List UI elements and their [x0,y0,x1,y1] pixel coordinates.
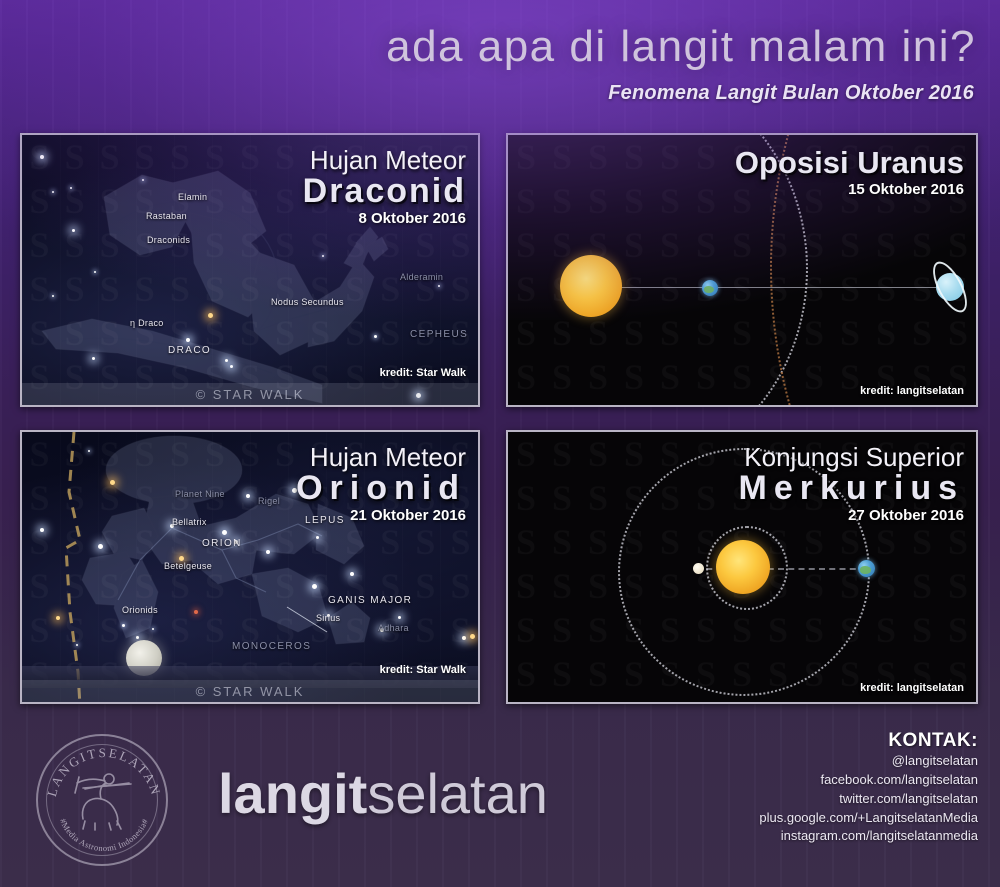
star [374,335,377,338]
draconid-heading: Hujan Meteor Draconid 8 Oktober 2016 [303,147,466,227]
sky-label: Bellatrix [172,517,207,527]
sky-label: Nodus Secundus [271,297,344,307]
starwalk-watermark-bar: © STAR WALK [22,680,478,702]
sky-label: MONOCEROS [232,641,311,652]
earth [858,560,875,577]
star [350,572,354,576]
mercury-scene: SSSSSSSSSSSSSSSSSSSSSSSSSSSSSSSSSSSSSSSS… [508,432,976,702]
uranus-date: 15 Oktober 2016 [735,181,964,198]
poster-footer: LANGITSELATAN #Media Astronomi Indonesia… [0,712,1000,887]
contact-handle[interactable]: @langitselatan [759,752,978,771]
star [56,616,60,620]
sky-label: DRACO [168,345,211,356]
earth [702,280,718,296]
star [52,191,54,193]
draconid-heading-main: Draconid [303,174,466,210]
panel-uranus[interactable]: SSSSSSSSSSSSSSSSSSSSSSSSSSSSSSSSSSSSSSSS… [506,133,978,407]
contact-gplus[interactable]: plus.google.com/+LangitselatanMedia [759,809,978,828]
uranus-heading: Oposisi Uranus 15 Oktober 2016 [735,147,964,198]
sky-label: ORION [202,538,242,549]
draconid-scene: SSSSSSSSSSSSSSSSSSSSSSSSSSSSSSSSSSSSSSSS… [22,135,478,405]
draconid-heading-top: Hujan Meteor [303,147,466,174]
star [52,295,54,297]
orionid-scene: SSSSSSSSSSSSSSSSSSSSSSSSSSSSSSSSSSSSSSSS… [22,432,478,702]
contact-facebook[interactable]: facebook.com/langitselatan [759,771,978,790]
sky-label: CEPHEUS [410,329,468,340]
sky-label: Planet Nine [175,489,225,499]
star [142,179,144,181]
orionid-heading: Hujan Meteor Orionid 21 Oktober 2016 [296,444,466,524]
star [316,536,319,539]
star [152,628,154,630]
star [438,285,440,287]
sun [716,540,770,594]
panel-draconid[interactable]: SSSSSSSSSSSSSSSSSSSSSSSSSSSSSSSSSSSSSSSS… [20,133,480,407]
star [266,550,270,554]
mercury-heading-top: Konjungsi Superior [739,444,965,471]
orionid-heading-main: Orionid [296,471,466,507]
sky-label: Adhara [378,623,409,633]
star [110,480,115,485]
star [92,357,95,360]
orionid-date: 21 Oktober 2016 [296,507,466,524]
mercury-credit: kredit: langitselatan [860,682,964,694]
star [40,528,44,532]
star [312,584,317,589]
sky-label: Rastaban [146,211,187,221]
mercury-heading-main: Merkurius [739,471,965,507]
page-subtitle: Fenomena Langit Bulan Oktober 2016 [608,82,974,105]
draconid-date: 8 Oktober 2016 [303,210,466,227]
uranus-credit: kredit: langitselatan [860,385,964,397]
star [322,255,324,257]
starwalk-watermark-bar: © STAR WALK [22,383,478,405]
star [194,610,198,614]
brand-wordmark: langitselatan [218,766,548,822]
sky-label: Rigel [258,496,280,506]
sky-label: Orionids [122,605,158,615]
star [98,544,103,549]
mercury-planet [693,563,704,574]
star [70,187,72,189]
star [246,494,250,498]
page-title: ada apa di langit malam ini? [386,22,976,72]
brand-bold: langit [218,762,367,825]
orionid-heading-top: Hujan Meteor [296,444,466,471]
panel-orionid[interactable]: SSSSSSSSSSSSSSSSSSSSSSSSSSSSSSSSSSSSSSSS… [20,430,480,704]
panel-mercury[interactable]: SSSSSSSSSSSSSSSSSSSSSSSSSSSSSSSSSSSSSSSS… [506,430,978,704]
star [470,634,475,639]
star [122,624,125,627]
sun [560,255,622,317]
contact-instagram[interactable]: instagram.com/langitselatanmedia [759,827,978,846]
mercury-date: 27 Oktober 2016 [739,507,965,524]
star [462,636,466,640]
star [88,450,90,452]
poster-canvas: ada apa di langit malam ini? Fenomena La… [0,0,1000,887]
star [225,359,228,362]
star [72,229,75,232]
langitselatan-logo-seal: LANGITSELATAN #Media Astronomi Indonesia… [36,734,168,866]
draconid-credit: kredit: Star Walk [380,367,466,379]
poster-header: ada apa di langit malam ini? Fenomena La… [0,0,1000,128]
sky-label: Sirius [316,613,340,623]
star-rastaban [186,338,190,342]
brand-light: selatan [367,762,548,825]
star [398,616,401,619]
star [40,155,44,159]
sky-label: Draconids [147,235,190,245]
uranus-heading-main: Oposisi Uranus [735,147,964,180]
mercury-heading: Konjungsi Superior Merkurius 27 Oktober … [739,444,965,524]
sagittarius-archer-icon [65,769,139,831]
sky-label: Betelgeuse [164,561,212,571]
star [136,636,139,639]
orionid-credit: kredit: Star Walk [380,664,466,676]
star [94,271,96,273]
sky-label: Alderamin [400,272,443,282]
star [76,644,78,646]
sky-label: η Draco [130,318,164,328]
star [230,365,233,368]
sky-label: Elamin [178,192,207,202]
opposition-sightline [616,287,952,288]
contact-block: KONTAK: @langitselatan facebook.com/lang… [759,730,978,846]
sky-label: GANIS MAJOR [328,595,412,606]
star-elamin [208,313,213,318]
star [222,530,227,535]
uranus-scene: SSSSSSSSSSSSSSSSSSSSSSSSSSSSSSSSSSSSSSSS… [508,135,976,405]
contact-heading: KONTAK: [759,730,978,752]
contact-twitter[interactable]: twitter.com/langitselatan [759,790,978,809]
